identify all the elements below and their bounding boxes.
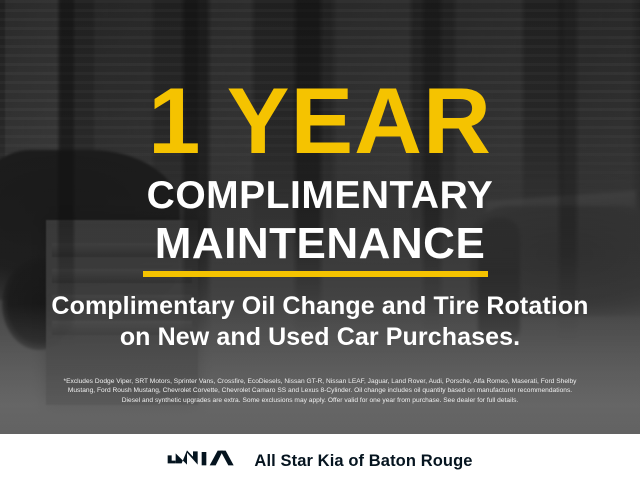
banner-content: 1 YEAR COMPLIMENTARY MAINTENANCE Complim… [0,0,640,434]
accent-divider-rule [143,271,488,277]
disclaimer-text: *Excludes Dodge Viper, SRT Motors, Sprin… [14,377,626,405]
dealer-name: All Star Kia of Baton Rouge [254,452,472,471]
headline-complimentary: COMPLIMENTARY [0,176,640,215]
disclaimer-line-3: Diesel and synthetic upgrades are extra.… [14,396,626,405]
subhead-line-2: on New and Used Car Purchases. [0,322,640,353]
footer-bar: All Star Kia of Baton Rouge [0,434,640,488]
subhead: Complimentary Oil Change and Tire Rotati… [0,291,640,353]
subhead-line-1: Complimentary Oil Change and Tire Rotati… [51,292,588,320]
disclaimer-line-1: *Excludes Dodge Viper, SRT Motors, Sprin… [14,377,626,386]
headline-maintenance: MAINTENANCE [0,222,640,266]
promotional-banner: 1 YEAR COMPLIMENTARY MAINTENANCE Complim… [0,0,640,488]
kia-logo-icon [167,448,237,475]
disclaimer-line-2: Mustang, Ford Roush Mustang, Chevrolet C… [14,386,626,395]
headline-year: 1 YEAR [0,74,640,168]
